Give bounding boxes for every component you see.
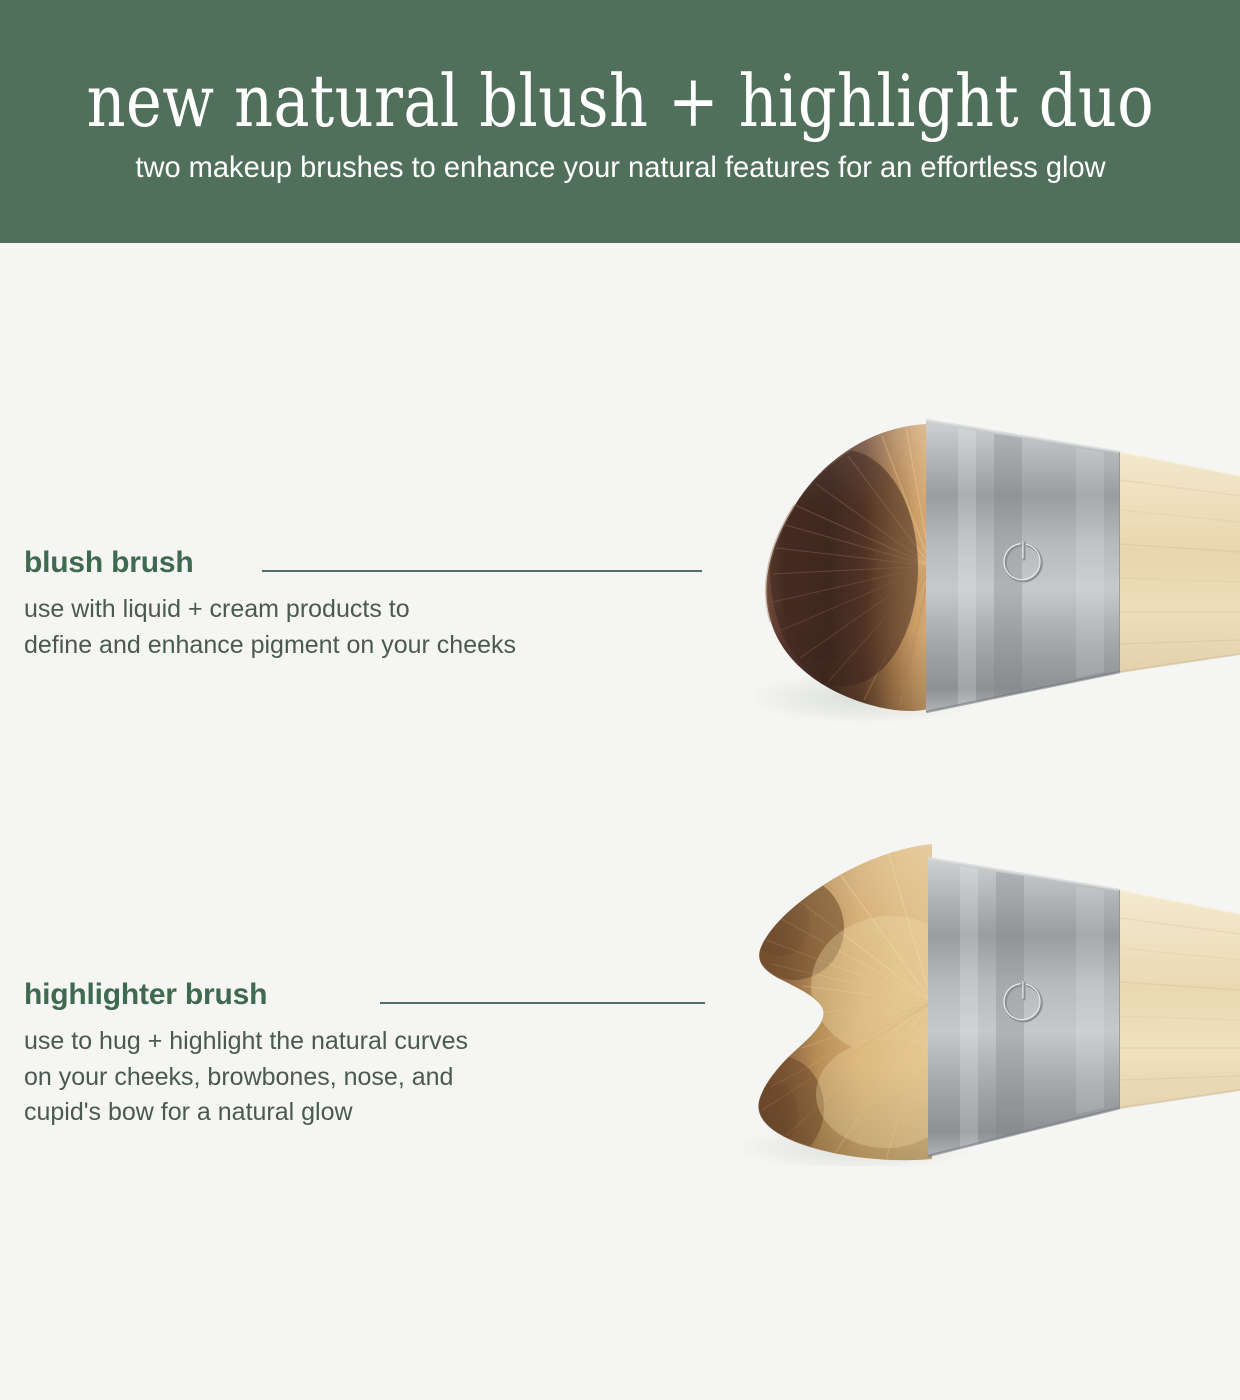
page-title: new natural blush + highlight duo [86,65,1153,138]
product-info-highlighter: highlighter brush use to hug + highlight… [24,980,468,1131]
product-info-blush: blush brush use with liquid + cream prod… [24,548,516,663]
header-banner: new natural blush + highlight duo two ma… [0,0,1240,243]
ferrule-highlighter [928,858,1120,1156]
product-heading-blush: blush brush [24,548,193,578]
product-heading-highlighter: highlighter brush [24,980,267,1010]
product-description-highlighter: use to hug + highlight the natural curve… [24,1024,468,1131]
handle-blush [1120,452,1240,672]
product-description-blush: use with liquid + cream products to defi… [24,592,516,663]
page-subtitle: two makeup brushes to enhance your natur… [135,152,1105,184]
product-image-blush-brush [676,406,1240,726]
infographic-page: new natural blush + highlight duo two ma… [0,0,1240,1400]
handle-highlighter [1120,890,1240,1108]
product-image-highlighter-brush [676,836,1240,1166]
ferrule-blush [926,420,1120,712]
bristle-head-blush [766,424,931,711]
